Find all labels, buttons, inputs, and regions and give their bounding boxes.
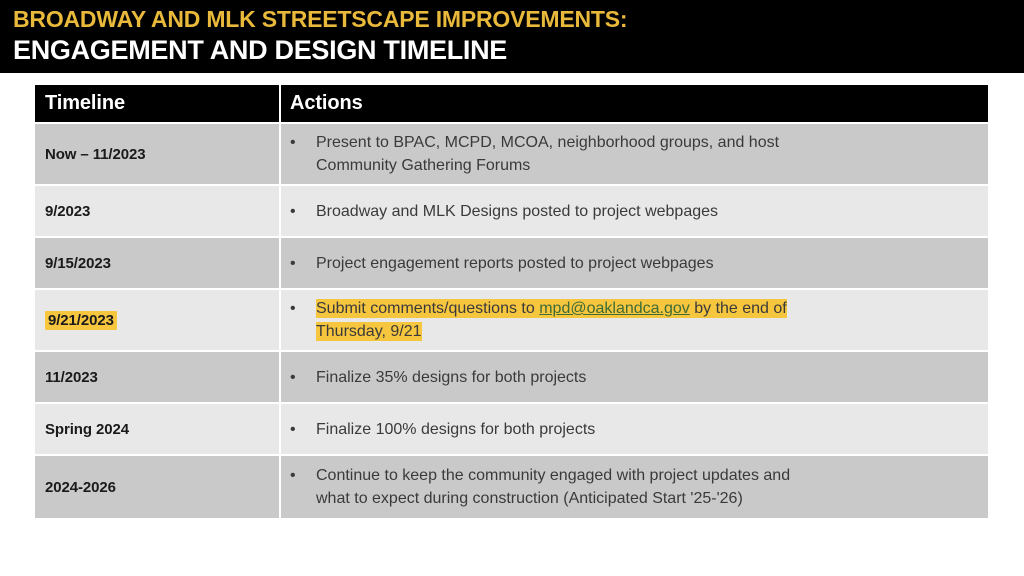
cell-timeline: 2024-2026 <box>35 454 279 518</box>
action-text-line-2: what to expect during construction (Anti… <box>316 490 743 507</box>
slide-title-line-2: Engagement and Design Timeline <box>13 35 507 65</box>
table-row-highlighted: 9/21/2023 • Submit comments/questions to… <box>35 288 988 350</box>
action-text: Finalize 100% designs for both projects <box>316 418 978 441</box>
slide-title-line-1: Broadway and MLK Streetscape Improvement… <box>13 6 627 32</box>
table-row: 11/2023 • Finalize 35% designs for both … <box>35 350 988 402</box>
action-text-suffix: by the end of <box>690 300 787 317</box>
cell-actions: • Project engagement reports posted to p… <box>279 236 988 288</box>
action-text: Broadway and MLK Designs posted to proje… <box>316 200 978 223</box>
table-row: 9/2023 • Broadway and MLK Designs posted… <box>35 184 988 236</box>
cell-actions: • Finalize 35% designs for both projects <box>279 350 988 402</box>
table-row: 2024-2026 • Continue to keep the communi… <box>35 454 988 518</box>
cell-timeline: 9/15/2023 <box>35 236 279 288</box>
action-text: Project engagement reports posted to pro… <box>316 252 978 275</box>
table-row: Spring 2024 • Finalize 100% designs for … <box>35 402 988 454</box>
cell-timeline: Now – 11/2023 <box>35 122 279 184</box>
bullet-icon: • <box>290 464 316 487</box>
column-header-actions: Actions <box>279 85 988 122</box>
action-text: Continue to keep the community engaged w… <box>316 464 978 510</box>
cell-timeline: 11/2023 <box>35 350 279 402</box>
action-text-line-1: Continue to keep the community engaged w… <box>316 467 790 484</box>
table-header-row: Timeline Actions <box>35 85 988 122</box>
cell-timeline: 9/2023 <box>35 184 279 236</box>
column-header-timeline: Timeline <box>35 85 279 122</box>
cell-actions: • Present to BPAC, MCPD, MCOA, neighborh… <box>279 122 988 184</box>
cell-actions: • Finalize 100% designs for both project… <box>279 402 988 454</box>
action-text-line-1: Present to BPAC, MCPD, MCOA, neighborhoo… <box>316 134 779 151</box>
action-text: Submit comments/questions to mpd@oakland… <box>316 297 978 343</box>
bullet-icon: • <box>290 131 316 154</box>
cell-actions: • Continue to keep the community engaged… <box>279 454 988 518</box>
bullet-icon: • <box>290 252 316 275</box>
cell-timeline: Spring 2024 <box>35 402 279 454</box>
cell-actions: • Broadway and MLK Designs posted to pro… <box>279 184 988 236</box>
action-text: Finalize 35% designs for both projects <box>316 366 978 389</box>
action-text-line-2: Community Gathering Forums <box>316 157 530 174</box>
table-row: Now – 11/2023 • Present to BPAC, MCPD, M… <box>35 122 988 184</box>
cell-timeline: 9/21/2023 <box>35 288 279 350</box>
action-text-prefix: Submit comments/questions to <box>316 300 539 317</box>
title-banner: Broadway and MLK Streetscape Improvement… <box>0 0 1024 73</box>
bullet-icon: • <box>290 366 316 389</box>
bullet-icon: • <box>290 297 316 320</box>
action-text: Present to BPAC, MCPD, MCOA, neighborhoo… <box>316 131 978 177</box>
action-text-line-2: Thursday, 9/21 <box>316 322 422 341</box>
table-row: 9/15/2023 • Project engagement reports p… <box>35 236 988 288</box>
bullet-icon: • <box>290 200 316 223</box>
bullet-icon: • <box>290 418 316 441</box>
highlighted-date: 9/21/2023 <box>45 311 117 330</box>
engagement-timeline-table: Timeline Actions Now – 11/2023 • Present… <box>35 85 988 518</box>
email-link[interactable]: mpd@oaklandca.gov <box>539 300 690 317</box>
cell-actions: • Submit comments/questions to mpd@oakla… <box>279 288 988 350</box>
